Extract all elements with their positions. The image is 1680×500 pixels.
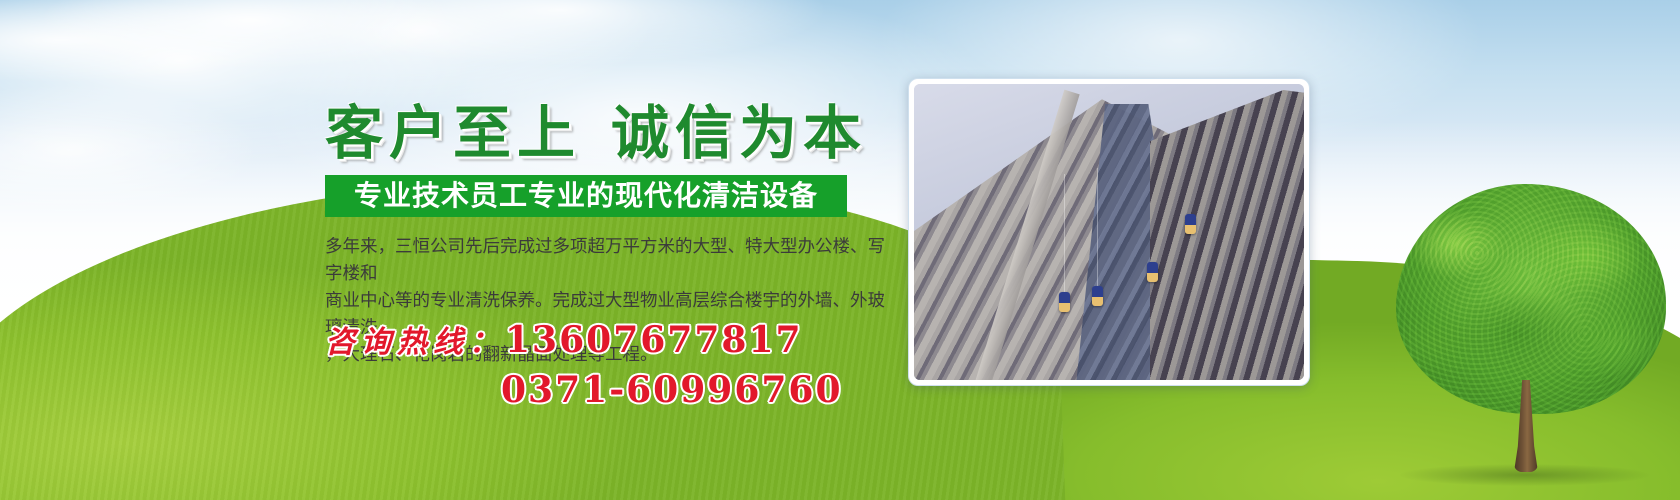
hotline-block: 咨询热线：13607677817 0371-60996760 [325, 318, 925, 413]
hotline-landline-number[interactable]: 0371-60996760 [325, 367, 925, 413]
promo-banner: 客户至上诚信为本 专业技术员工专业的现代化清洁设备 多年来，三恒公司先后完成过多… [0, 0, 1680, 500]
banner-headline: 客户至上诚信为本 [325, 104, 867, 162]
tree-graphic [1396, 184, 1666, 474]
photo-window-cleaner [1147, 262, 1158, 282]
headline-phrase-2: 诚信为本 [611, 99, 867, 167]
slogan-bar: 专业技术员工专业的现代化清洁设备 [325, 175, 847, 217]
photo-window-cleaner [1185, 214, 1196, 234]
photo-window-cleaner [1059, 292, 1070, 312]
description-line-1: 多年来，三恒公司先后完成过多项超万平方米的大型、特大型办公楼、写字楼和 [325, 234, 891, 288]
photo-rope [1064, 174, 1065, 294]
tree-canopy [1396, 184, 1666, 414]
hotline-label: 咨询热线： [325, 325, 505, 360]
building-photo-frame [908, 78, 1310, 386]
building-photo [914, 84, 1304, 380]
photo-building-right-facade [1150, 90, 1304, 380]
headline-phrase-1: 客户至上 [325, 99, 581, 167]
photo-window-cleaner [1092, 286, 1103, 306]
hotline-primary-line: 咨询热线：13607677817 [325, 318, 925, 365]
slogan-bar-text: 专业技术员工专业的现代化清洁设备 [354, 182, 818, 210]
photo-rope [1097, 168, 1098, 288]
hotline-mobile-number[interactable]: 13607677817 [505, 319, 803, 361]
